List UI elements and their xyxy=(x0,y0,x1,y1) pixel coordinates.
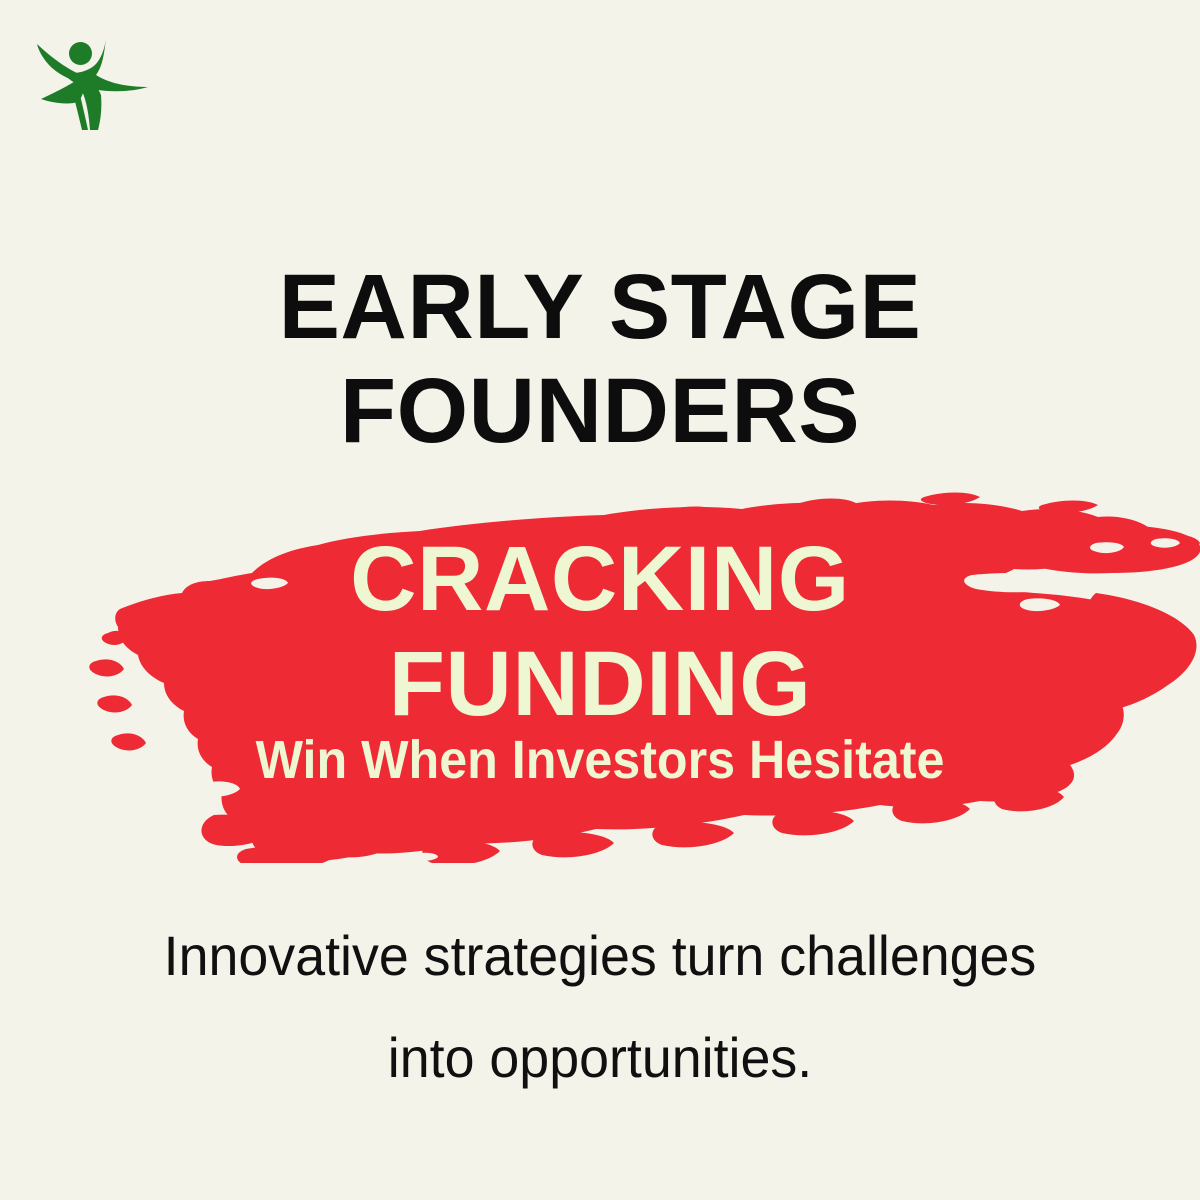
brush-subtitle: Win When Investors Hesitate xyxy=(42,733,1158,787)
headline-line-1: EARLY STAGE xyxy=(0,256,1200,360)
tagline-line-2: into opportunities. xyxy=(24,1007,1176,1109)
poster-canvas: EARLY STAGE FOUNDERS xyxy=(0,0,1200,1200)
page-title: EARLY STAGE FOUNDERS xyxy=(0,256,1200,464)
tagline: Innovative strategies turn challenges in… xyxy=(0,905,1200,1109)
tagline-line-1: Innovative strategies turn challenges xyxy=(24,905,1176,1007)
brush-stroke-banner: CRACKING FUNDING Win When Investors Hesi… xyxy=(0,483,1200,863)
brand-logo[interactable] xyxy=(32,25,152,130)
brush-title-line-2: FUNDING xyxy=(0,638,1200,730)
brush-banner-text: CRACKING FUNDING Win When Investors Hesi… xyxy=(0,483,1200,863)
brush-title-line-1: CRACKING xyxy=(0,533,1200,625)
headline-line-2: FOUNDERS xyxy=(0,360,1200,464)
person-star-logo-icon xyxy=(32,25,152,130)
